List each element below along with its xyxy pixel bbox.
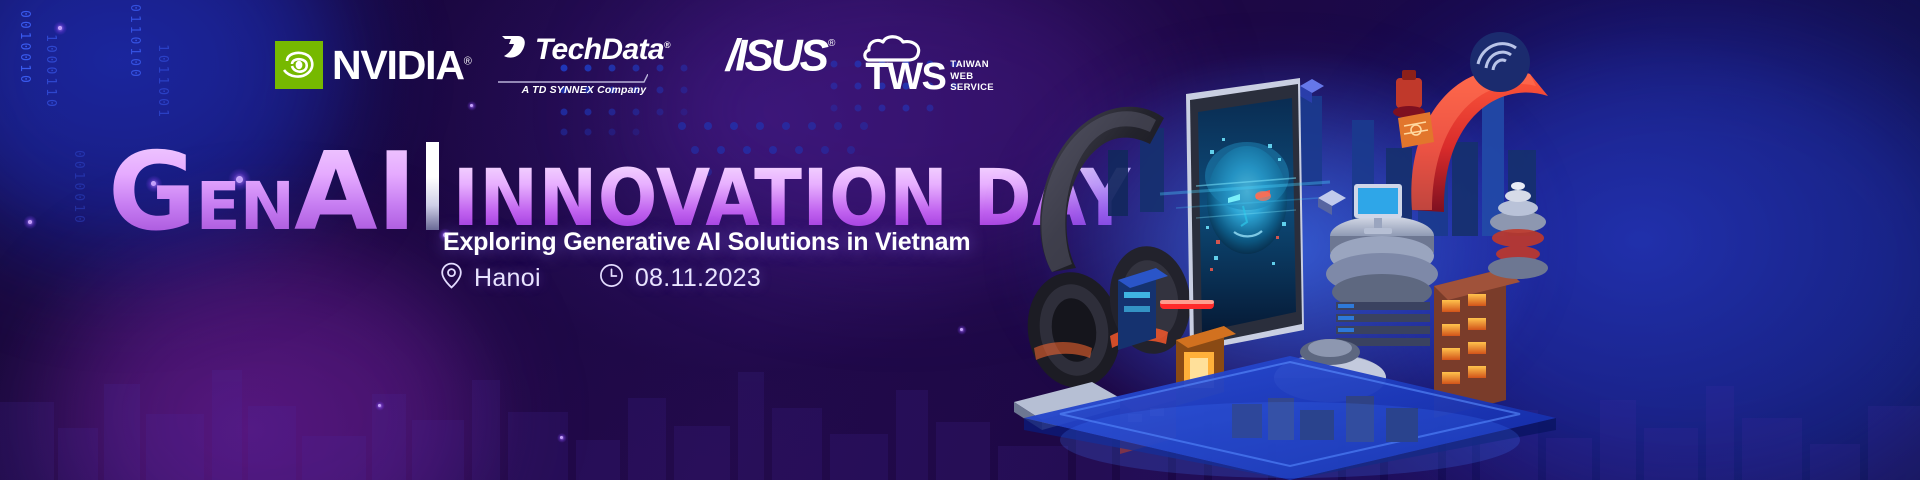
orange-circuit-chip [1398,112,1434,148]
sparkle-star [58,26,62,30]
binary-rain-column: 1000110 [44,34,57,110]
tws-sub-line-1: TAIWAN [950,59,994,71]
registered-mark: ® [664,40,670,50]
techdata-tagline: A TD SYNNEX Company [498,84,670,96]
sparkle-star [960,328,963,331]
partner-logo-techdata[interactable]: TechData® A TD SYNNEX Company [498,34,670,96]
binary-rain-column: 0010010 [72,150,85,226]
sparkle-star [28,220,32,224]
event-location-label: Hanoi [474,264,541,293]
partner-logo-row: NVIDIA® TechData® [275,34,994,96]
sparkle-star [560,436,563,439]
genai-innovation-day-banner: 0010010 1000110 0110100 1011001 0010010 [0,0,1920,480]
techdata-monogram-icon [498,32,528,67]
nvidia-wordmark: NVIDIA® [332,45,472,86]
techdata-underline-rule [498,71,670,81]
tws-sub-line-2: WEB [950,71,994,83]
partner-logo-tws[interactable]: TWS TAIWAN WEB SERVICE [865,34,994,96]
banner-subtitle: Exploring Generative AI Solutions in Vie… [443,228,970,257]
binary-rain-column: 0110100 [128,4,141,80]
location-pin-icon [440,262,463,294]
event-meta-row: Hanoi 08.11.2023 [440,262,761,294]
tws-sub-lines: TAIWAN WEB SERVICE [950,59,994,94]
city-skyline-silhouette [0,310,1920,480]
genai-3d-illustration [1000,0,1560,480]
event-date: 08.11.2023 [599,263,761,293]
partner-logo-asus[interactable]: /ISUS ® [726,34,835,96]
headline-divider-bar [426,142,439,230]
binary-rain-column: 0010010 [18,10,31,86]
nvidia-eye-logo-icon [275,41,323,89]
registered-mark: ® [464,55,472,67]
sparkle-star [470,104,473,107]
techdata-wordmark: TechData® [535,35,670,65]
event-date-label: 08.11.2023 [635,264,761,293]
headline-group: GENAI INNOVATION DAY [108,142,1131,242]
binary-rain-column: 1011001 [156,44,169,120]
cloud-icon [863,34,925,67]
tws-sub-line-3: SERVICE [950,82,994,94]
registered-mark: ® [828,38,835,49]
asus-wordmark: /ISUS [726,34,826,79]
event-location: Hanoi [440,262,541,294]
clock-icon [599,263,624,293]
sparkle-star [378,404,381,407]
headline-genai: GENAI [108,143,416,242]
partner-logo-nvidia[interactable]: NVIDIA® [275,34,472,96]
